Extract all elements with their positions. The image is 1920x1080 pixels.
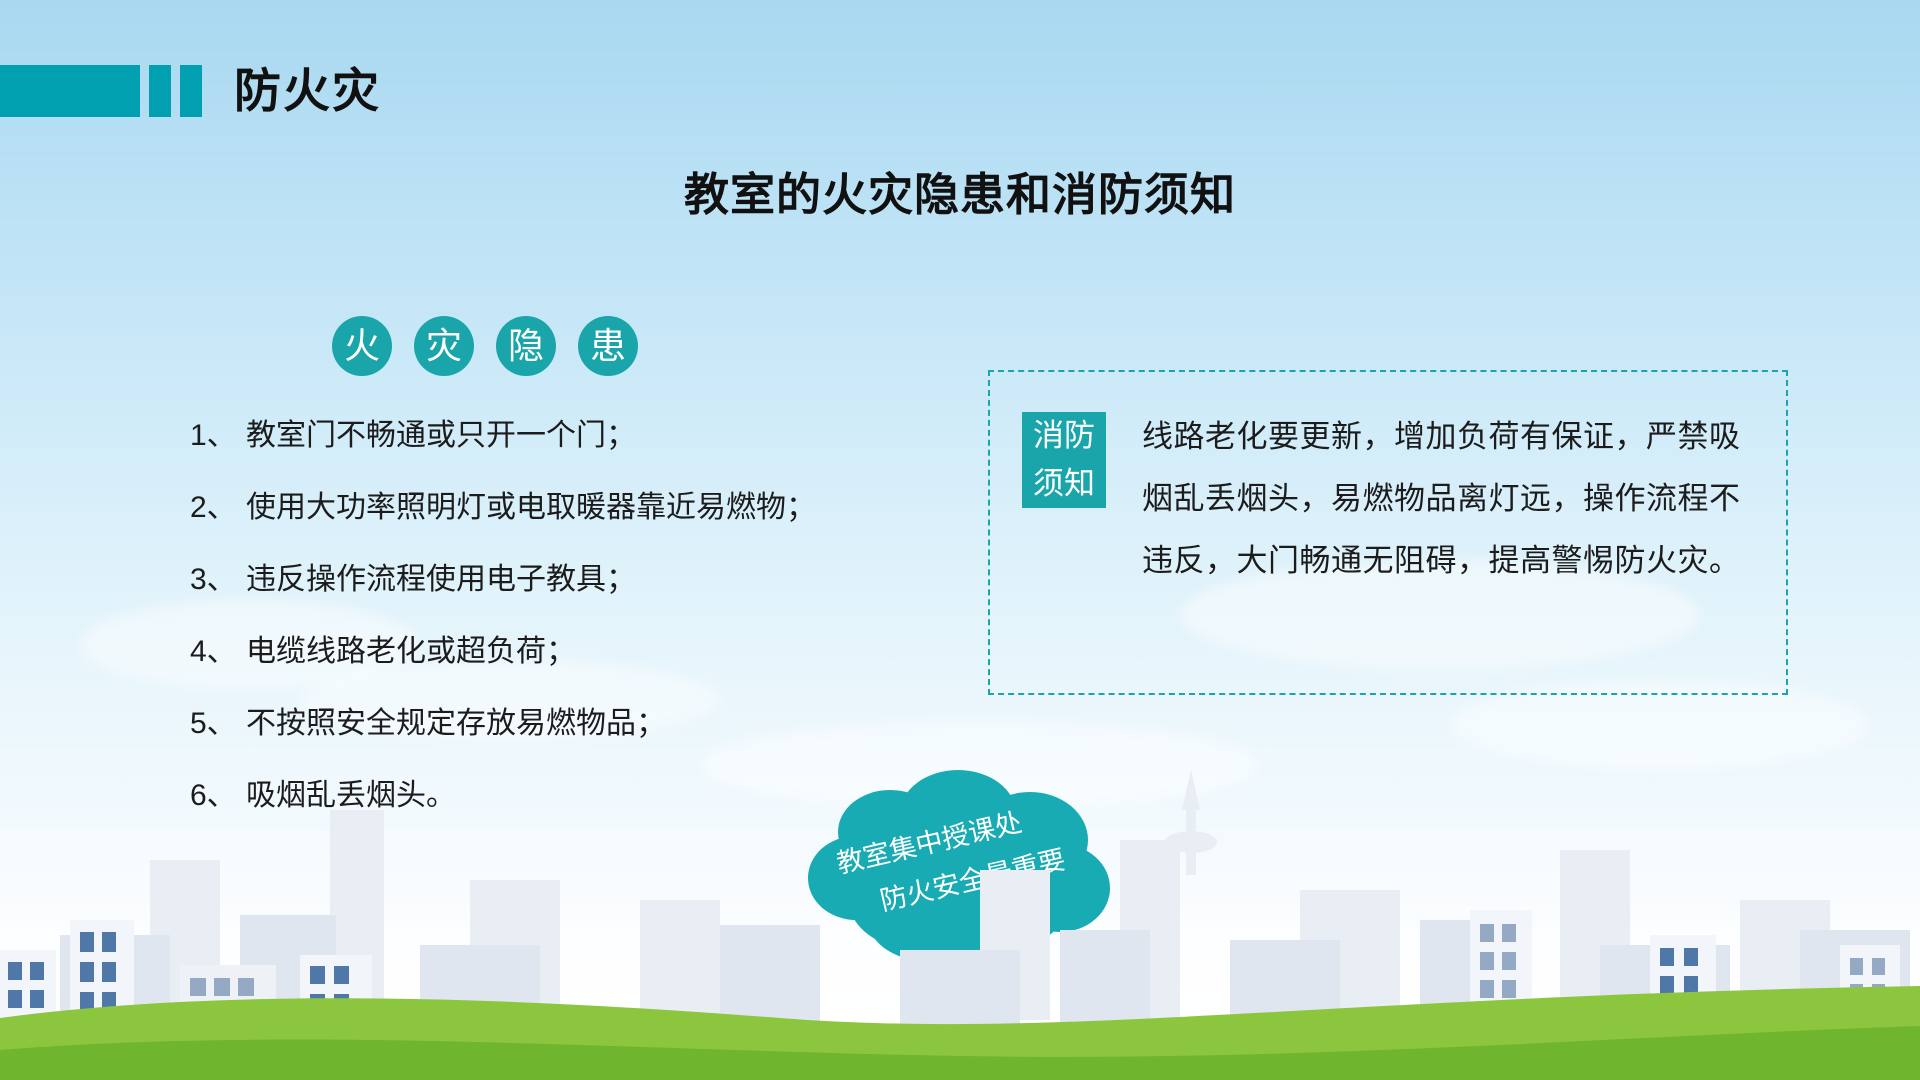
word-circle-3: 隐 <box>496 316 556 376</box>
list-item-number: 5、 <box>190 698 246 742</box>
skyline-illustration-icon <box>0 750 1920 1080</box>
list-item-label: 违反操作流程使用电子教具； <box>246 554 910 598</box>
word-circle-4: 患 <box>578 316 638 376</box>
header-title: 防火灾 <box>234 65 381 117</box>
notice-badge-line-1: 消防 <box>1026 412 1102 460</box>
list-item: 5、 不按照安全规定存放易燃物品； <box>190 698 910 742</box>
list-item-label: 不按照安全规定存放易燃物品； <box>246 698 910 742</box>
notice-body-text: 线路老化要更新，增加负荷有保证，严禁吸烟乱丢烟头，易燃物品离灯远，操作流程不违反… <box>1142 406 1752 592</box>
list-item: 2、 使用大功率照明灯或电取暖器靠近易燃物； <box>190 482 910 526</box>
list-item: 4、 电缆线路老化或超负荷； <box>190 626 910 670</box>
header-bar-segment-3 <box>180 65 202 117</box>
city-skyline-scene <box>0 750 1920 1080</box>
fire-notice-panel: 消防 须知 线路老化要更新，增加负荷有保证，严禁吸烟乱丢烟头，易燃物品离灯远，操… <box>988 370 1788 695</box>
page-title: 教室的火灾隐患和消防须知 <box>0 158 1920 223</box>
list-item-label: 电缆线路老化或超负荷； <box>246 626 910 670</box>
word-circle-1: 火 <box>332 316 392 376</box>
header-accent-bar: 防火灾 <box>0 65 381 117</box>
section-label-circles: 火 灾 隐 患 <box>332 316 638 376</box>
list-item-number: 4、 <box>190 626 246 670</box>
list-item-number: 1、 <box>190 410 246 454</box>
list-item-number: 2、 <box>190 482 246 526</box>
list-item-label: 使用大功率照明灯或电取暖器靠近易燃物； <box>246 482 910 526</box>
header-bar-segment-1 <box>0 65 140 117</box>
list-item-number: 3、 <box>190 554 246 598</box>
notice-badge: 消防 须知 <box>1022 412 1106 508</box>
header-bar-segment-2 <box>149 65 171 117</box>
list-item: 3、 违反操作流程使用电子教具； <box>190 554 910 598</box>
slide-canvas: 防火灾 教室的火灾隐患和消防须知 火 灾 隐 患 1、 教室门不畅通或只开一个门… <box>0 0 1920 1080</box>
list-item: 1、 教室门不畅通或只开一个门； <box>190 410 910 454</box>
notice-badge-line-2: 须知 <box>1026 460 1102 508</box>
word-circle-2: 灾 <box>414 316 474 376</box>
list-item-label: 教室门不畅通或只开一个门； <box>246 410 910 454</box>
